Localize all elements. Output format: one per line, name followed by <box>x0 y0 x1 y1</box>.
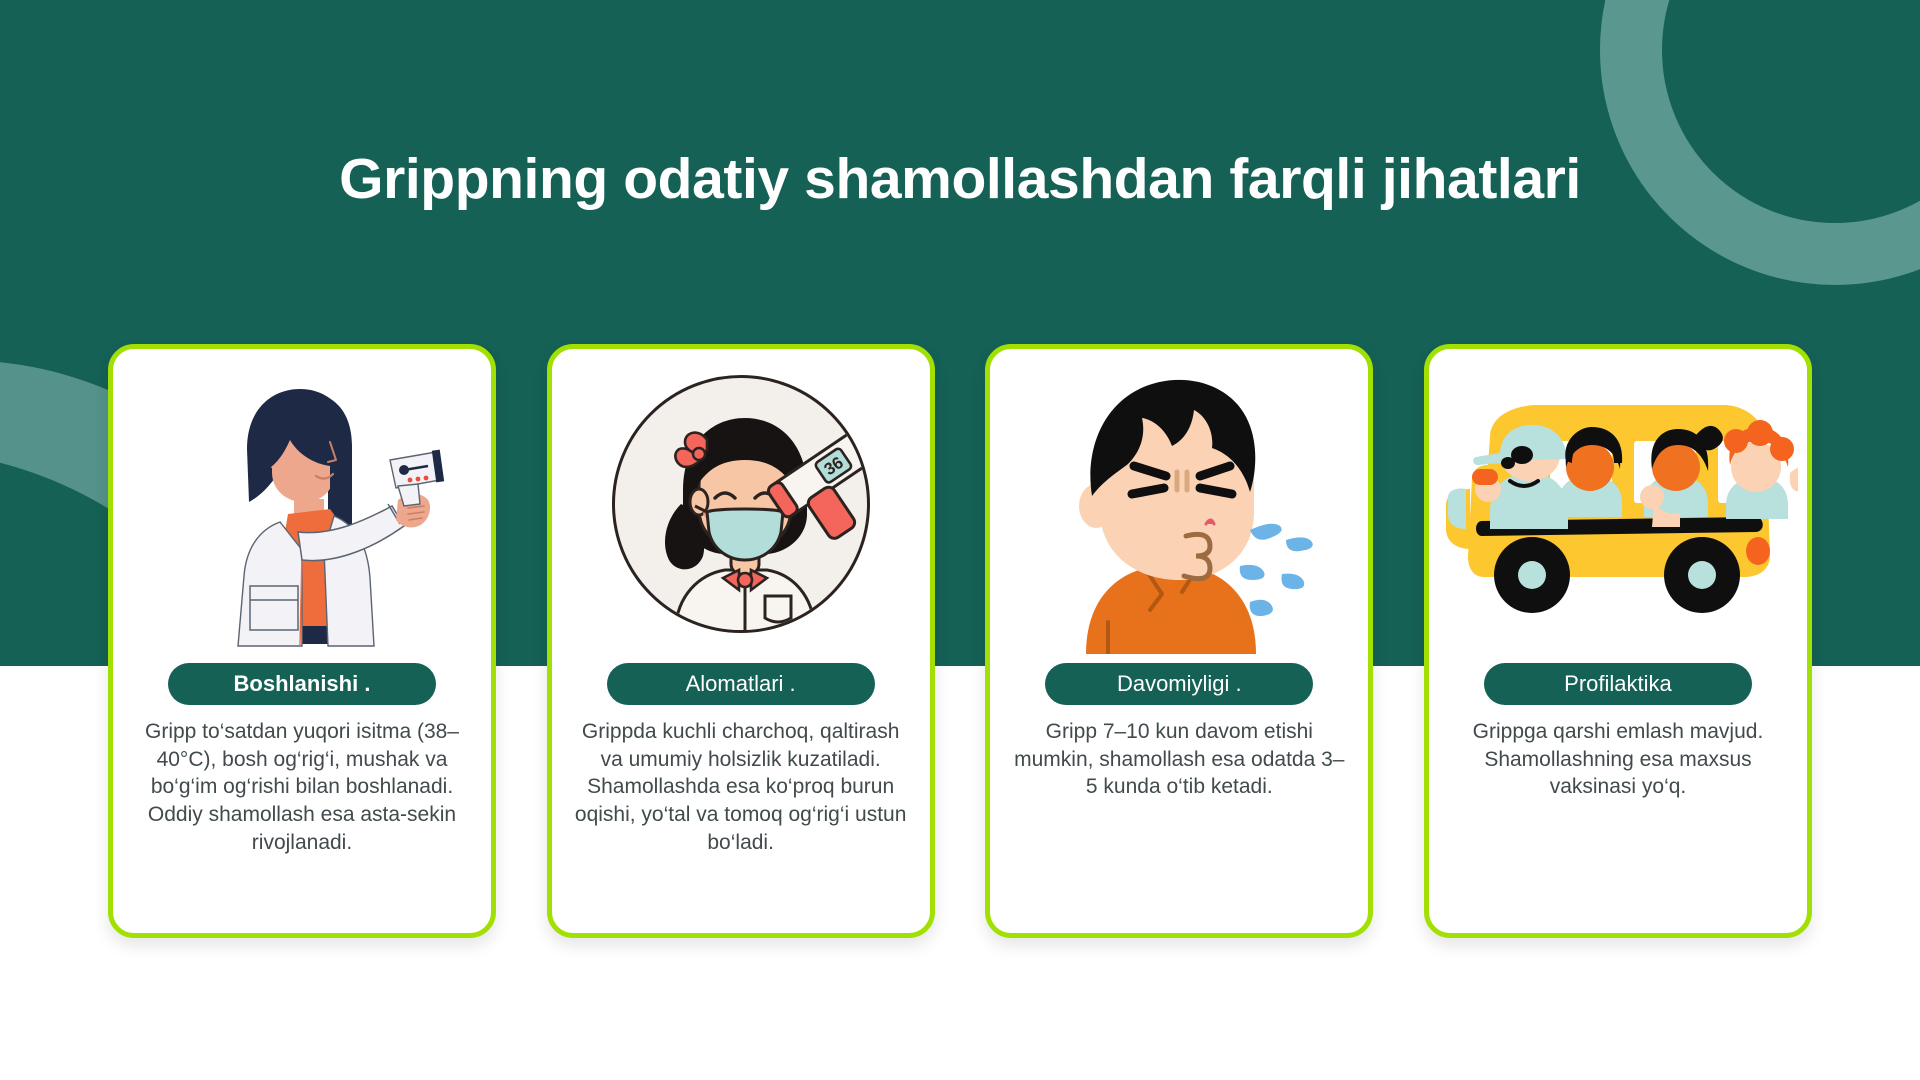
card-illustration-area <box>990 349 1368 659</box>
card-row: Boshlanishi . Gripp to‘satdan yuqori isi… <box>108 344 1812 944</box>
card-alomatlari[interactable]: 36 Alomatlari . Grippda kuchli charchoq,… <box>547 344 935 938</box>
card-body-text: Gripp 7–10 kun davom etishi mumkin, sham… <box>990 718 1368 801</box>
card-body-text: Grippda kuchli charchoq, qaltirash va um… <box>552 718 930 857</box>
doctor-with-thermometer-gun-icon <box>152 354 452 654</box>
card-profilaktika[interactable]: Profilaktika Grippga qarshi emlash mavju… <box>1424 344 1812 938</box>
card-illustration-area: 36 <box>552 349 930 659</box>
card-davomiyligi[interactable]: Davomiyligi . Gripp 7–10 kun davom etish… <box>985 344 1373 938</box>
card-badge: Boshlanishi . <box>168 663 436 705</box>
card-body-text: Gripp to‘satdan yuqori isitma (38–40°C),… <box>113 718 491 857</box>
decorative-ring-arc <box>1600 0 1920 285</box>
card-badge: Alomatlari . <box>607 663 875 705</box>
card-boshlanishi[interactable]: Boshlanishi . Gripp to‘satdan yuqori isi… <box>108 344 496 938</box>
card-badge: Profilaktika <box>1484 663 1752 705</box>
card-illustration-area <box>1429 349 1807 659</box>
circular-illustration-frame: 36 <box>612 375 870 633</box>
card-illustration-area <box>113 349 491 659</box>
school-bus-with-children-icon <box>1438 379 1798 629</box>
page-title: Grippning odatiy shamollashdan farqli ji… <box>0 148 1920 211</box>
card-body-text: Grippga qarshi emlash mavjud. Shamollash… <box>1429 718 1807 801</box>
card-badge: Davomiyligi . <box>1045 663 1313 705</box>
infographic-slide: Grippning odatiy shamollashdan farqli ji… <box>0 0 1920 1080</box>
masked-girl-temperature-check-icon: 36 <box>615 378 870 633</box>
coughing-boy-icon <box>1034 354 1324 654</box>
